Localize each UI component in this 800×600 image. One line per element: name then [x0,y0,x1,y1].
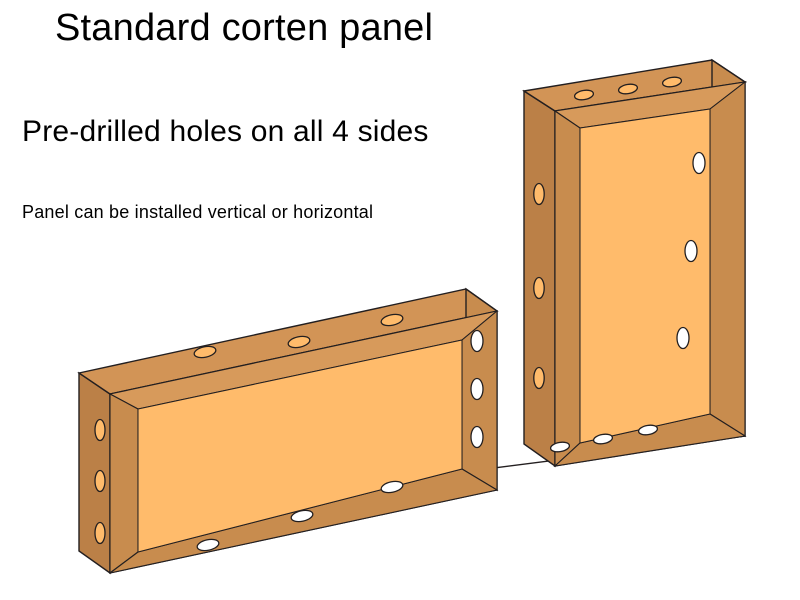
vertical-panel [524,60,745,466]
hole-horizontal-left-2 [95,471,105,492]
hole-vertical-left-3 [534,368,544,389]
vertical-panel-inner-left-lip [555,111,580,466]
hole-horizontal-left-1 [95,420,105,441]
hole-vertical-right-3 [677,328,689,349]
horizontal-panel-left-edge-face [79,373,110,573]
hole-horizontal-right-3 [471,427,483,448]
hole-horizontal-right-1 [471,331,483,352]
horizontal-panel [79,289,497,573]
hole-horizontal-left-3 [95,523,105,544]
corten-panel-isometric-drawing [0,0,800,600]
hole-vertical-right-1 [693,153,705,174]
hole-vertical-left-1 [534,184,544,205]
hole-vertical-right-2 [685,241,697,262]
hole-vertical-left-2 [534,278,544,299]
slide-canvas: Standard corten panel Pre-drilled holes … [0,0,800,600]
panels-svg [0,0,800,600]
vertical-panel-inner-right-lip [710,82,745,436]
hole-horizontal-right-2 [471,379,483,400]
horizontal-panel-inner-left-lip [110,394,138,573]
vertical-panel-recessed-field [580,109,710,443]
